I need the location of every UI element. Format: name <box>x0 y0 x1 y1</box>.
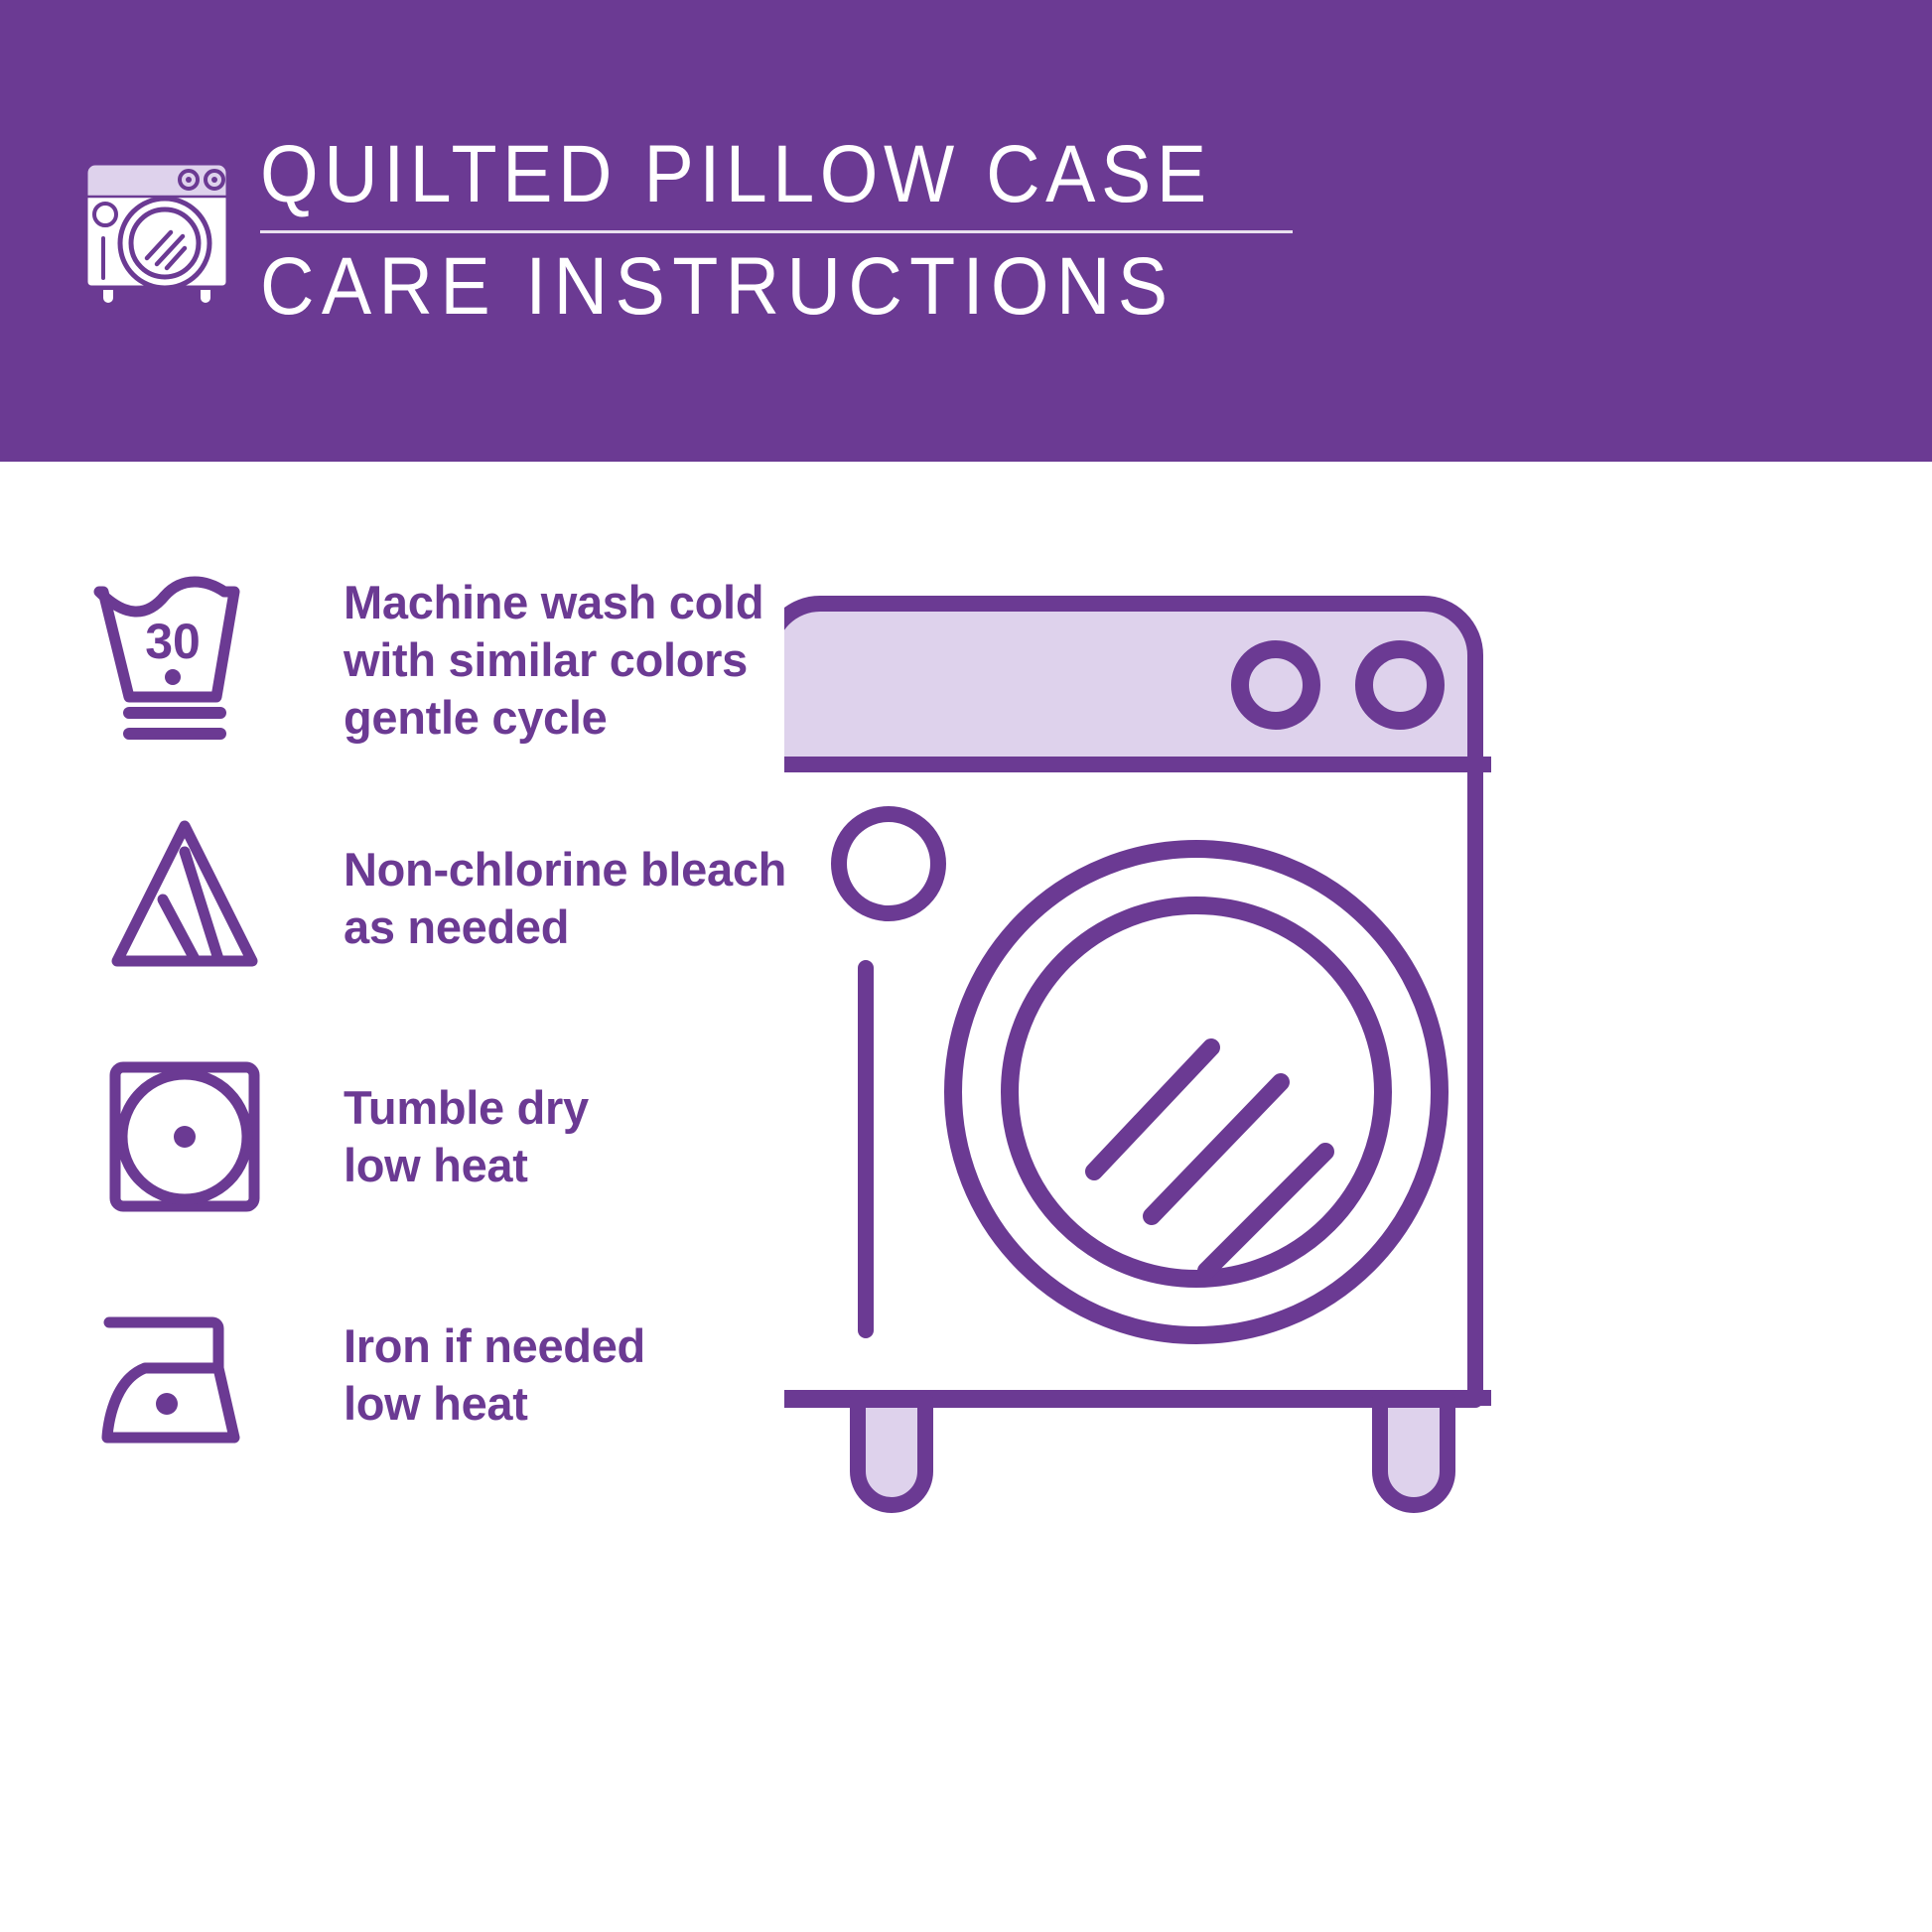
care-instruction-label: Iron if needed low heat <box>344 1317 645 1433</box>
tumble-dry-low-icon <box>85 1042 284 1231</box>
title-divider <box>260 230 1293 233</box>
non-chlorine-bleach-triangle-icon <box>85 804 284 993</box>
washing-machine-icon <box>77 127 236 306</box>
content-area: 30 Machine wash cold with similar colors… <box>0 462 1932 1932</box>
wash-tub-30-icon: 30 <box>85 566 284 755</box>
iron-low-heat-icon <box>85 1281 284 1469</box>
page-subtitle: CARE INSTRUCTIONS <box>260 245 1212 329</box>
washing-machine-illustration <box>784 516 1519 1539</box>
washer-leg <box>1380 1400 1448 1505</box>
wash-temp-value: 30 <box>145 614 201 669</box>
care-instruction-label: Non-chlorine bleach as needed <box>344 841 786 956</box>
header-content: QUILTED PILLOW CASE CARE INSTRUCTIONS <box>77 127 1295 328</box>
care-instruction-label: Tumble dry low heat <box>344 1079 589 1194</box>
header-band: QUILTED PILLOW CASE CARE INSTRUCTIONS <box>0 0 1932 462</box>
washer-leg <box>858 1400 925 1505</box>
page-title: QUILTED PILLOW CASE <box>260 133 1212 216</box>
care-instruction-label: Machine wash cold with similar colors ge… <box>344 574 763 746</box>
header-titles: QUILTED PILLOW CASE CARE INSTRUCTIONS <box>260 127 1295 328</box>
